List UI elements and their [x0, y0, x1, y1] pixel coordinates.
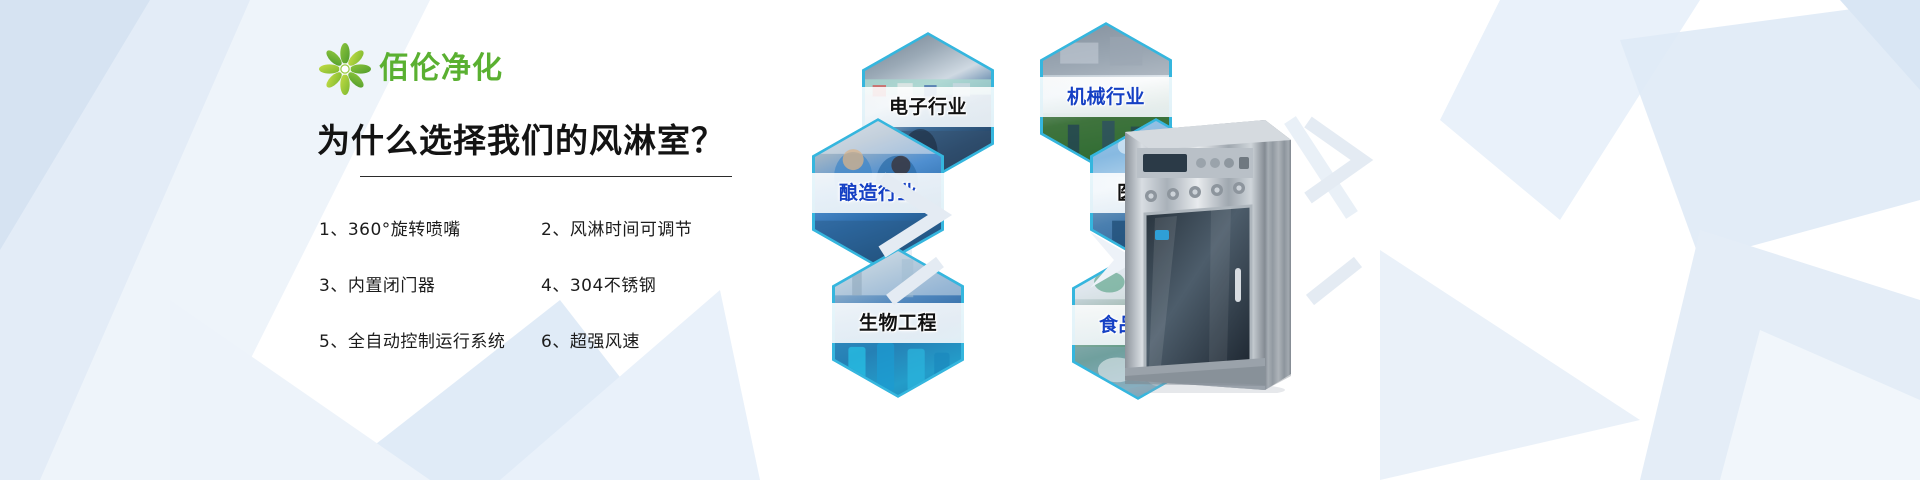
brand-name: 佰伦净化 — [379, 54, 503, 84]
green-flower-icon — [319, 43, 371, 95]
feature-item-2: 2、风淋时间可调节 — [541, 215, 741, 240]
title-divider — [360, 176, 732, 177]
feature-list: 1、360°旋转喷嘴 2、风淋时间可调节 3、内置闭门器 4、304不锈钢 5、… — [319, 199, 755, 367]
brand-lockup: 佰伦净化 — [305, 40, 755, 98]
feature-item-6: 6、超强风速 — [541, 327, 741, 352]
promo-banner: 佰伦净化 为什么选择我们的风淋室？ 1、360°旋转喷嘴 2、风淋时间可调节 3… — [0, 0, 1920, 480]
page-title: 为什么选择我们的风淋室？ — [305, 114, 755, 162]
feature-item-1: 1、360°旋转喷嘴 — [319, 215, 541, 240]
air-shower-cabinet-image — [1115, 118, 1295, 393]
feature-item-4: 4、304不锈钢 — [541, 271, 741, 296]
feature-item-3: 3、内置闭门器 — [319, 271, 541, 296]
left-content-panel: 佰伦净化 为什么选择我们的风淋室？ 1、360°旋转喷嘴 2、风淋时间可调节 3… — [305, 40, 755, 420]
feature-item-5: 5、全自动控制运行系统 — [319, 327, 541, 352]
